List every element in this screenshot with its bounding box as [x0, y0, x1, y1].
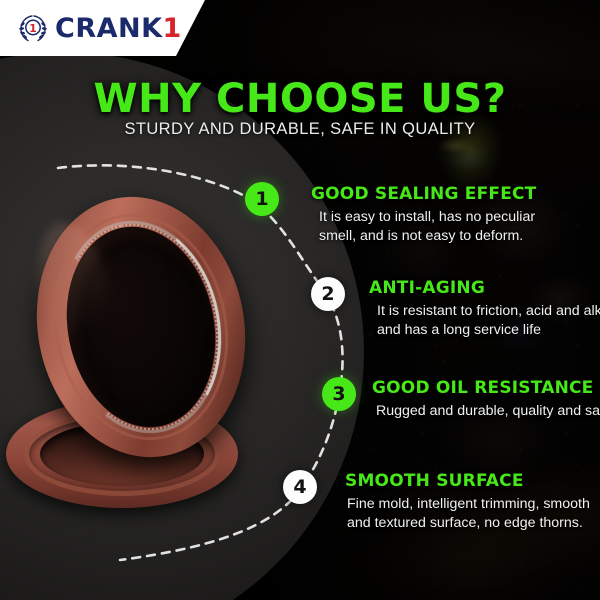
feature-badge-number-1: 1	[255, 190, 268, 209]
laurel-wreath-icon: 1	[16, 11, 50, 45]
brand-wordmark-main: CRANK	[55, 13, 163, 44]
feature-desc-3: Rugged and durable, quality and safe.	[372, 402, 600, 421]
feature-title-1: GOOD SEALING EFFECT	[311, 184, 569, 204]
feature-badge-number-3: 3	[332, 385, 345, 404]
feature-desc-4: Fine mold, intelligent trimming, smooth …	[345, 495, 600, 533]
brand-wordmark-accent: 1	[163, 13, 182, 44]
feature-title-3: GOOD OIL RESISTANCE	[372, 378, 600, 398]
feature-badge-number-2: 2	[321, 285, 334, 304]
feature-desc-2: It is resistant to friction, acid and al…	[369, 302, 600, 340]
feature-title-4: SMOOTH SURFACE	[345, 471, 600, 491]
feature-desc-1: It is easy to install, has no peculiar s…	[311, 208, 569, 246]
feature-badge-3[interactable]: 3	[322, 377, 356, 411]
emblem-number: 1	[29, 22, 37, 35]
feature-badge-1[interactable]: 1	[245, 182, 279, 216]
feature-badge-2[interactable]: 2	[311, 277, 345, 311]
feature-badge-number-4: 4	[293, 478, 306, 497]
brand-wordmark: CRANK1	[55, 15, 182, 42]
brand-logo: 1 CRANK1	[0, 11, 182, 45]
product-image-oil-seals	[4, 190, 254, 520]
feature-badge-4[interactable]: 4	[283, 470, 317, 504]
infographic-canvas: 1 CRANK1 WHY CHOOSE US? STURDY AND DURAB…	[0, 0, 600, 600]
brand-logo-banner: 1 CRANK1	[0, 0, 205, 56]
page-subtitle: STURDY AND DURABLE, SAFE IN QUALITY	[0, 120, 600, 139]
page-title: WHY CHOOSE US?	[0, 76, 600, 122]
feature-title-2: ANTI-AGING	[369, 278, 600, 298]
